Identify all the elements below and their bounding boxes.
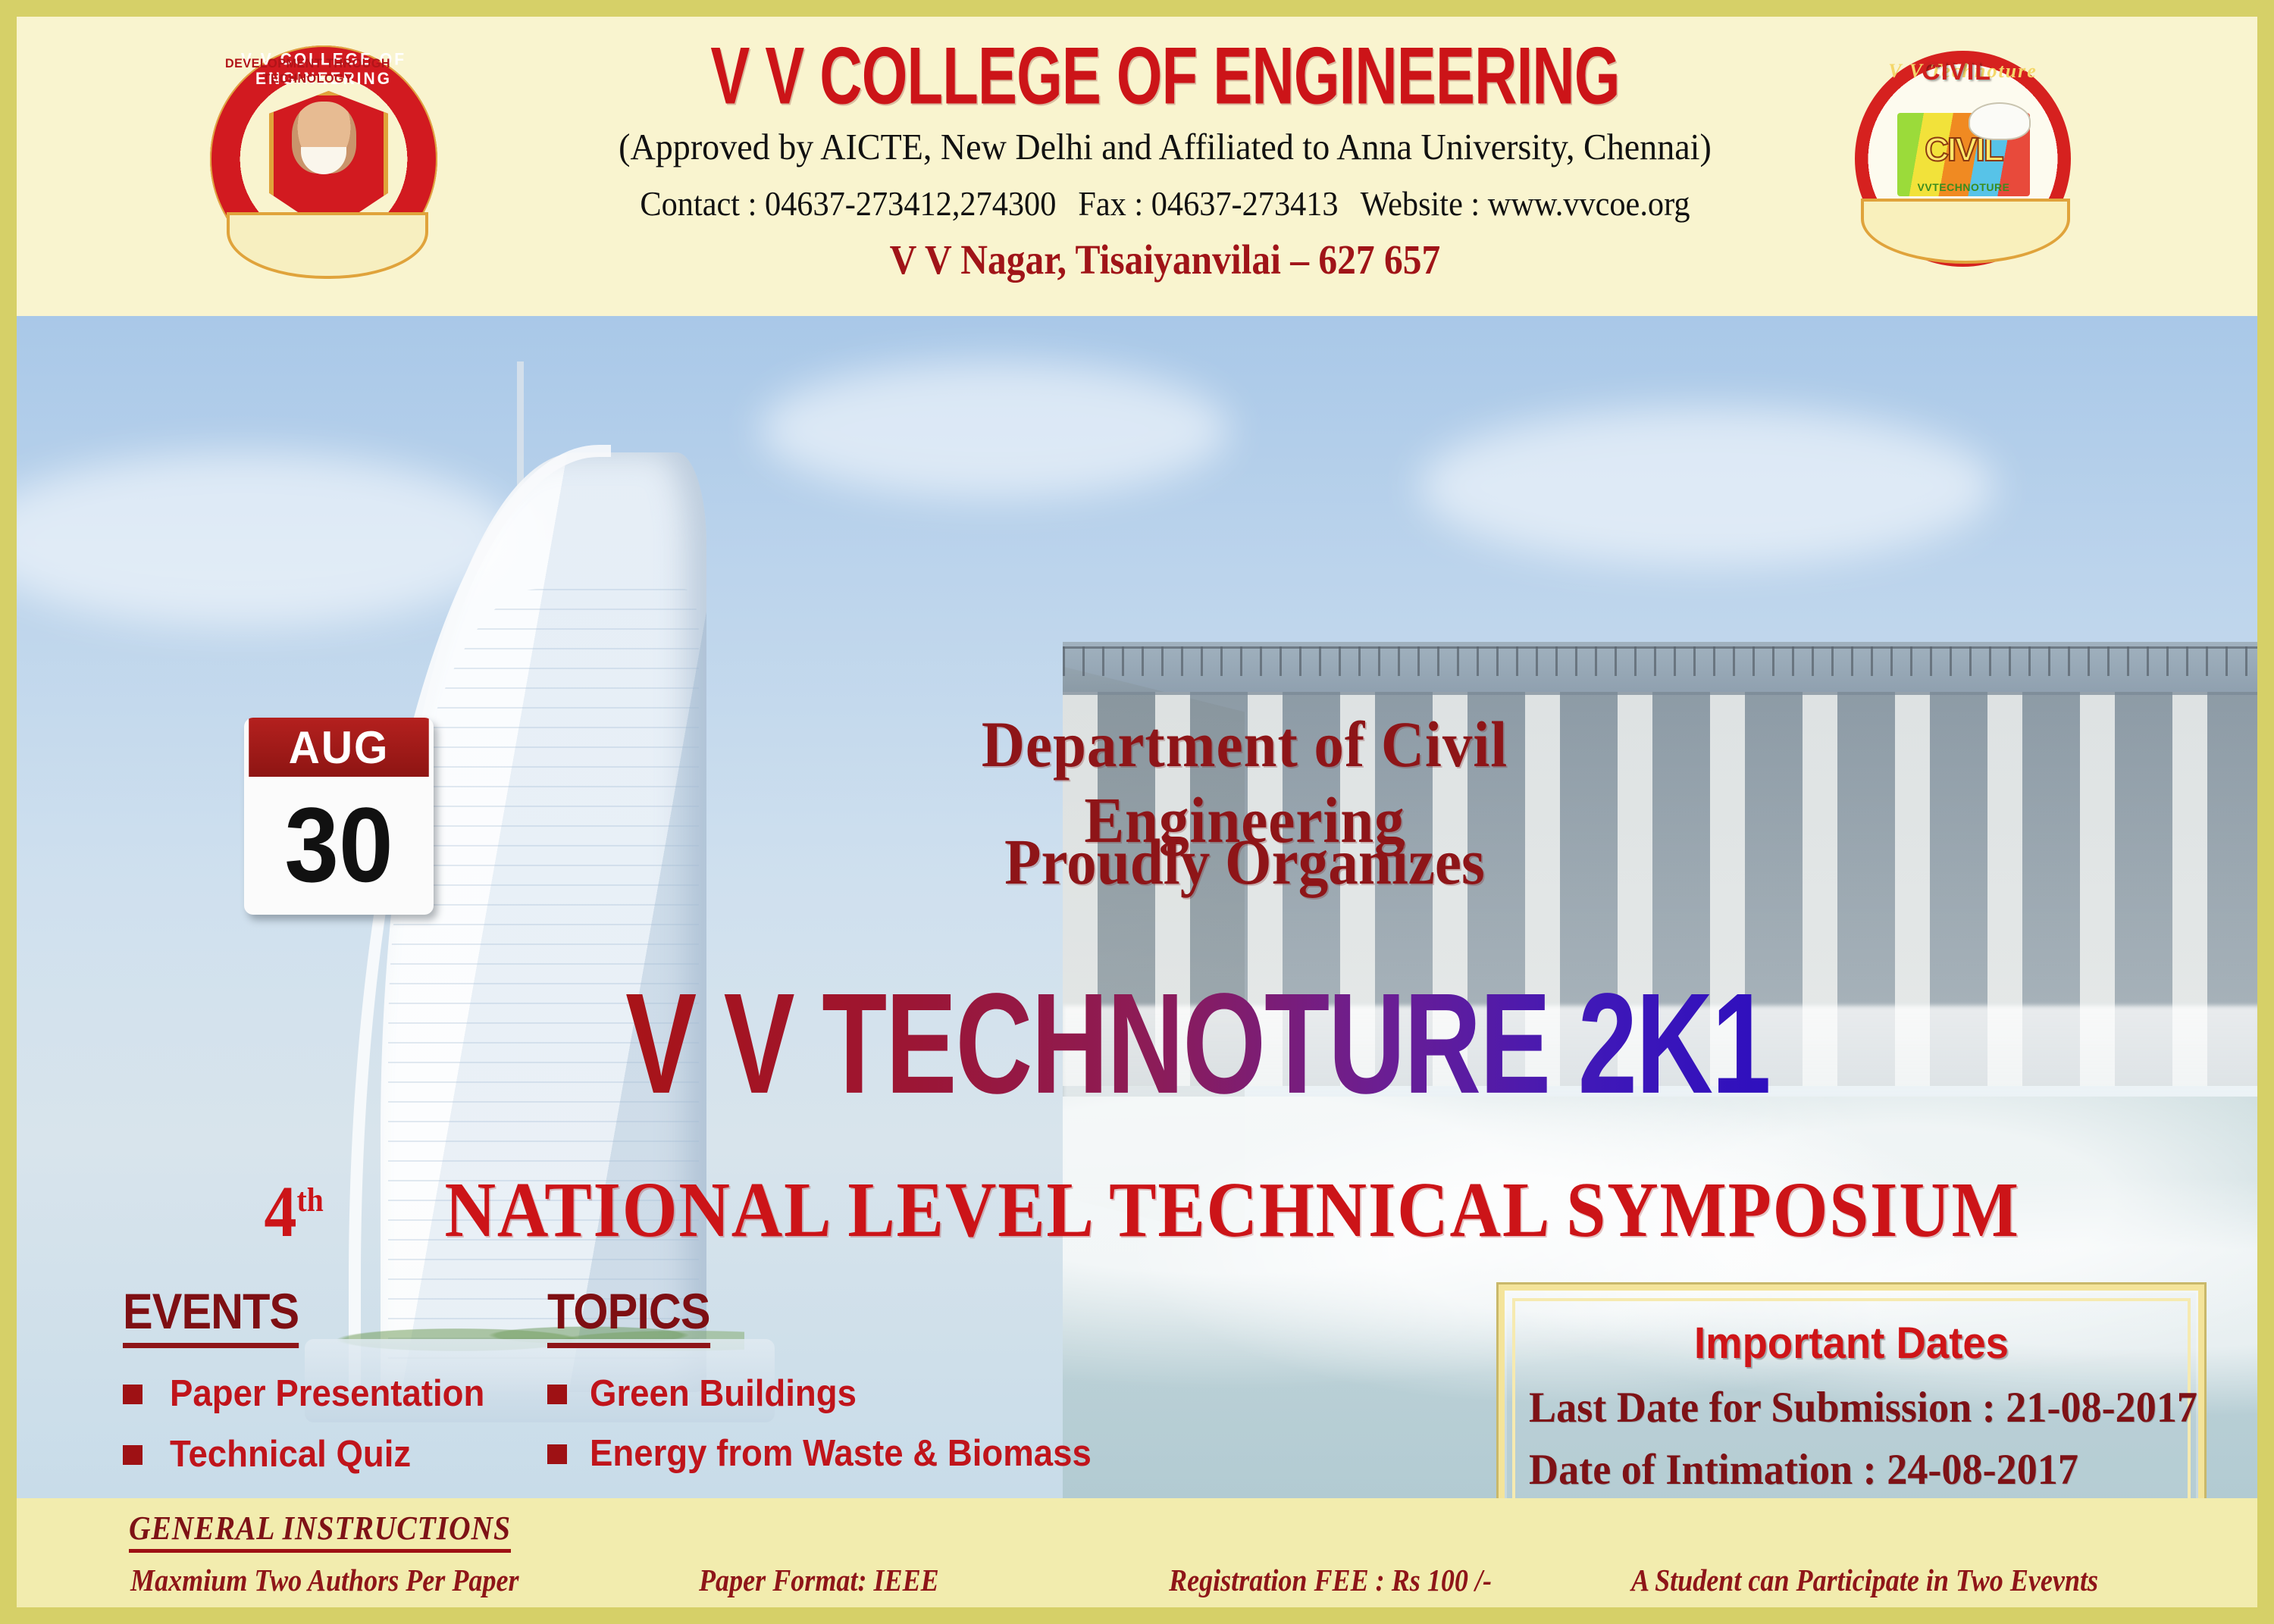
subtitle-row: 4th NATIONAL LEVEL TECHNICAL SYMPOSIUM	[168, 1165, 2200, 1255]
college-name: V V COLLEGE OF ENGINEERING	[597, 36, 1734, 117]
organizes-line: Proudly Organizes	[826, 824, 1663, 900]
event-title: V V TECHNOTURE 2K17	[625, 972, 1773, 1116]
poster-body: AUG 30 Department of Civil Engineering P…	[17, 316, 2257, 1498]
instruction-item: Registration FEE : Rs 100 /-	[1169, 1562, 1492, 1598]
hard-hat-icon	[1969, 102, 2031, 140]
fax-label: Fax : 04637-273413	[1078, 184, 1338, 223]
edition-ordinal: 4th	[264, 1169, 323, 1253]
events-heading: EVENTS	[123, 1282, 299, 1348]
logo-ribbon	[227, 212, 428, 279]
accreditation-line: (Approved by AICTE, New Delhi and Affili…	[513, 125, 1817, 168]
cloud-shape	[1419, 407, 1995, 566]
general-instructions-title: GENERAL INSTRUCTIONS	[129, 1509, 511, 1553]
calendar-day: 30	[252, 777, 426, 913]
instruction-item: Paper Format: IEEE	[699, 1562, 939, 1598]
bullet-icon	[547, 1444, 567, 1464]
header-text-block: V V COLLEGE OF ENGINEERING (Approved by …	[471, 23, 1859, 283]
poster-header: V V COLLEGE OF ENGINEERING DEVELOPMENT T…	[17, 17, 2257, 316]
building-mast	[517, 361, 524, 498]
list-item: Energy from Waste & Biomass	[547, 1434, 1533, 1475]
website-label[interactable]: Website : www.vvcoe.org	[1361, 184, 1690, 223]
technoture-logo-department: CIVIL	[1855, 57, 2058, 86]
topic-label: Green Buildings	[590, 1374, 857, 1415]
bullet-icon	[123, 1385, 143, 1404]
poster-root: V V COLLEGE OF ENGINEERING DEVELOPMENT T…	[0, 0, 2274, 1624]
intimation-date-row: Date of Intimation : 24-08-2017	[1529, 1445, 2163, 1494]
important-dates-inner-frame: Important Dates Last Date for Submission…	[1512, 1298, 2191, 1498]
phone-label: Contact : 04637-273412,274300	[640, 184, 1056, 223]
important-dates-title: Important Dates	[1536, 1318, 2168, 1369]
vv-technoture-civil-logo: V V Technoture VVTECHNOTURE CIVIL	[1855, 43, 2082, 308]
founder-portrait	[292, 102, 356, 174]
dam-railing	[1063, 646, 2257, 676]
poster-footer: GENERAL INSTRUCTIONS Maxmium Two Authors…	[17, 1498, 2257, 1607]
college-logo-motto: DEVELOPMENT THROUGH TECHNOLOGY	[215, 56, 400, 86]
events-column: EVENTS Paper Presentation Technical Quiz…	[123, 1282, 562, 1498]
edition-suffix: th	[296, 1181, 323, 1219]
list-item: Green Buildings	[547, 1374, 1533, 1415]
edition-number: 4	[264, 1171, 296, 1252]
cloud-shape	[760, 361, 1229, 498]
last-date-row: Last Date for Submission : 21-08-2017	[1529, 1383, 2163, 1432]
bullet-icon	[123, 1445, 143, 1465]
calendar-month: AUG	[249, 718, 429, 777]
topics-heading: TOPICS	[547, 1282, 710, 1348]
technoture-logo-ribbon	[1861, 199, 2070, 264]
instruction-item: Maxmium Two Authors Per Paper	[130, 1562, 519, 1598]
list-item: Paper Presentation	[123, 1374, 562, 1415]
general-instructions-row: Maxmium Two Authors Per Paper Paper Form…	[17, 1562, 2257, 1600]
important-dates-panel: Important Dates Last Date for Submission…	[1499, 1284, 2204, 1498]
technoture-artwork-caption: VVTECHNOTURE	[1897, 181, 2030, 193]
topic-label: Energy from Waste & Biomass	[590, 1434, 1092, 1475]
header-contact-line: Contact : 04637-273412,274300 Fax : 0463…	[527, 183, 1803, 224]
bullet-icon	[547, 1385, 567, 1404]
vv-college-logo: V V COLLEGE OF ENGINEERING DEVELOPMENT T…	[210, 39, 453, 312]
college-address: V V Nagar, Tisaiyanvilai – 627 657	[541, 236, 1790, 283]
instruction-item: A Student can Participate in Two Evevnts	[1631, 1562, 2098, 1598]
calendar-icon: AUG 30	[244, 718, 434, 915]
symposium-subtitle: NATIONAL LEVEL TECHNICAL SYMPOSIUM	[444, 1165, 2019, 1255]
list-item: Technical Quiz	[123, 1435, 562, 1475]
event-label: Technical Quiz	[170, 1435, 411, 1475]
event-label: Paper Presentation	[170, 1374, 484, 1415]
topics-column: TOPICS Green Buildings Energy from Waste…	[547, 1282, 1533, 1498]
